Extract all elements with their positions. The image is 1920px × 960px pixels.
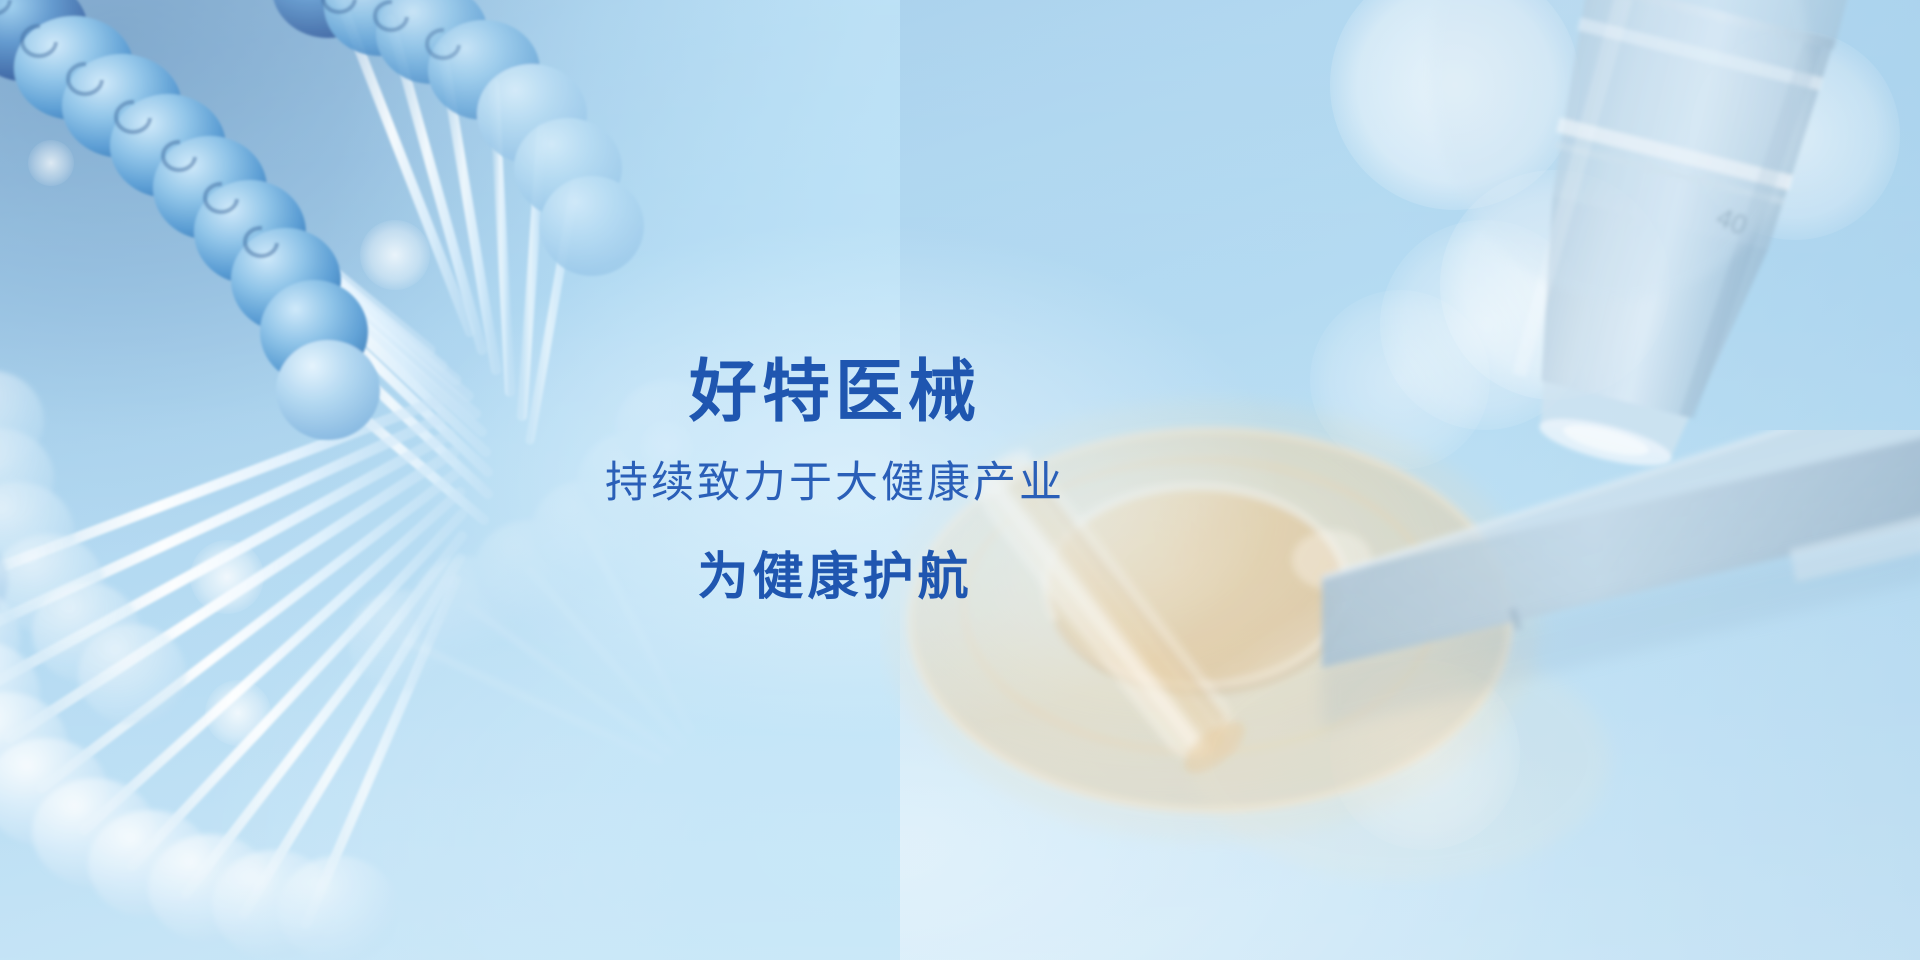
hero-copy: 好特医械 持续致力于大健康产业 为健康护航: [0, 0, 1670, 960]
brand-subtitle: 持续致力于大健康产业: [605, 462, 1065, 505]
hero-banner: 40: [0, 0, 1920, 960]
brand-title: 好特医械: [689, 358, 981, 426]
brand-tagline: 为健康护航: [697, 551, 972, 602]
